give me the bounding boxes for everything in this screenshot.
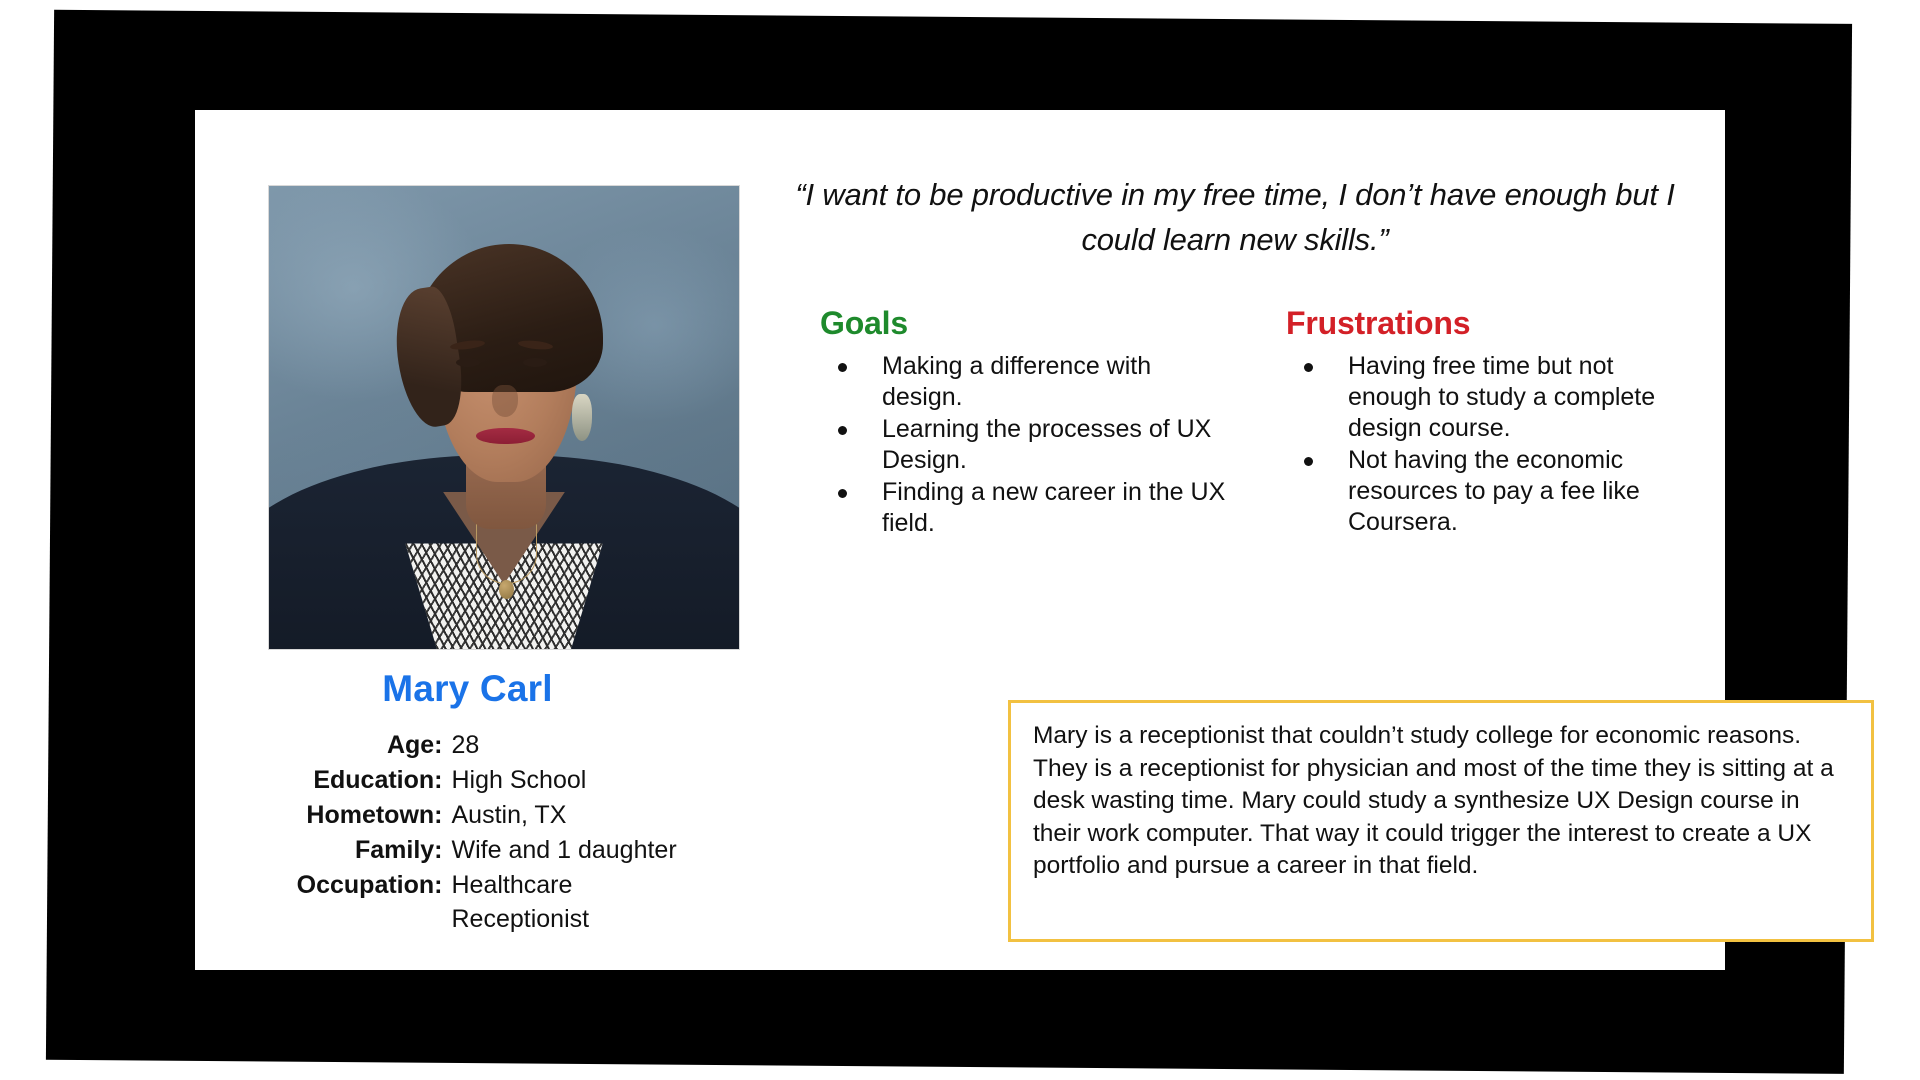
detail-label-family: Family: <box>233 833 443 867</box>
goals-list-item: Learning the processes of UX Design. <box>820 414 1230 476</box>
photo-lips <box>476 428 535 445</box>
persona-name: Mary Carl <box>195 668 740 710</box>
frustrations-list: Having free time but not enough to study… <box>1286 351 1696 538</box>
persona-quote: “I want to be productive in my free time… <box>790 172 1680 262</box>
detail-row-occupation: Occupation: Healthcare Receptionist <box>195 868 740 936</box>
detail-value-education: High School <box>443 763 703 797</box>
detail-label-education: Education: <box>233 763 443 797</box>
detail-row-family: Family: Wife and 1 daughter <box>195 833 740 867</box>
frustrations-section: Frustrations Having free time but not en… <box>1286 305 1696 540</box>
goals-heading: Goals <box>820 305 1230 342</box>
persona-content-column: “I want to be productive in my free time… <box>740 110 1725 970</box>
detail-row-education: Education: High School <box>195 763 740 797</box>
persona-photo <box>268 185 740 650</box>
detail-value-age: 28 <box>443 728 703 762</box>
detail-row-age: Age: 28 <box>195 728 740 762</box>
persona-profile-column: Mary Carl Age: 28 Education: High School… <box>195 110 740 970</box>
goals-list: Making a difference with design. Learnin… <box>820 351 1230 539</box>
detail-label-occupation: Occupation: <box>233 868 443 902</box>
persona-card: Mary Carl Age: 28 Education: High School… <box>195 110 1725 970</box>
frustrations-list-item: Having free time but not enough to study… <box>1286 351 1696 444</box>
goals-frustrations-row: Goals Making a difference with design. L… <box>820 305 1720 540</box>
photo-necklace <box>476 524 537 584</box>
photo-earring <box>572 394 592 440</box>
detail-label-age: Age: <box>233 728 443 762</box>
goals-section: Goals Making a difference with design. L… <box>820 305 1230 540</box>
frustrations-list-item: Not having the economic resources to pay… <box>1286 445 1696 538</box>
goals-list-item: Making a difference with design. <box>820 351 1230 413</box>
persona-summary-text: Mary is a receptionist that couldn’t stu… <box>1033 720 1849 883</box>
goals-list-item: Finding a new career in the UX field. <box>820 477 1230 539</box>
detail-label-hometown: Hometown: <box>233 798 443 832</box>
detail-value-occupation: Healthcare Receptionist <box>443 868 703 936</box>
detail-row-hometown: Hometown: Austin, TX <box>195 798 740 832</box>
persona-details-list: Age: 28 Education: High School Hometown:… <box>195 728 740 937</box>
detail-value-family: Wife and 1 daughter <box>443 833 703 867</box>
slide-canvas: Mary Carl Age: 28 Education: High School… <box>0 0 1920 1080</box>
persona-summary-box: Mary is a receptionist that couldn’t stu… <box>1008 700 1874 942</box>
detail-value-hometown: Austin, TX <box>443 798 703 832</box>
frustrations-heading: Frustrations <box>1286 305 1696 342</box>
